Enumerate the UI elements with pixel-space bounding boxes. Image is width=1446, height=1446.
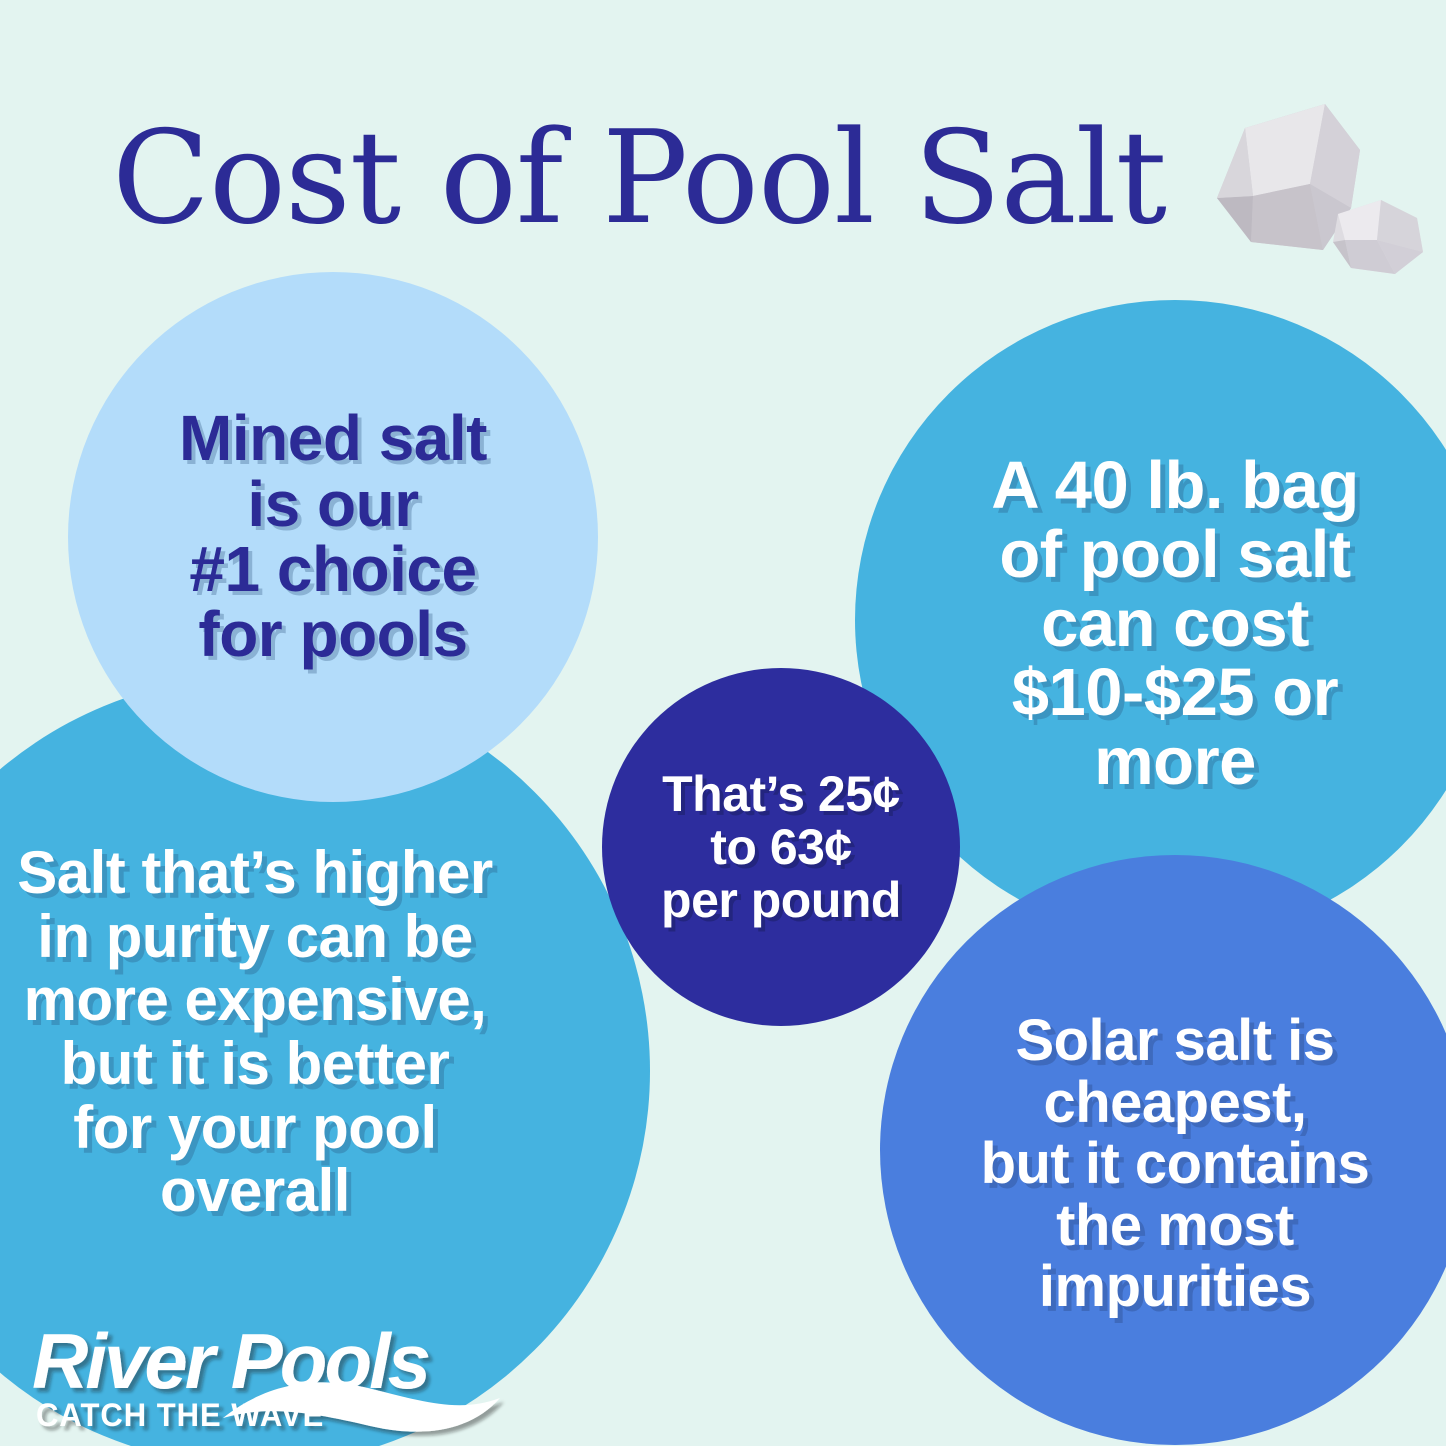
bubble-purity-text: Salt that’s higher in purity can be more… [0,841,549,1223]
bubble-per-pound-text: That’s 25¢ to 63¢ per pound [635,768,927,927]
salt-crystal-rocks-icon [1155,88,1445,298]
infographic-canvas: Cost of Pool Salt Salt that’s higher in … [0,0,1446,1446]
bubble-solar-salt: Solar salt is cheapest, but it contains … [880,855,1446,1445]
river-pools-logo: River Pools CATCH THE WAVE [18,1322,518,1446]
bubble-mined-salt-text: Mined salt is our #1 choice for pools [155,406,511,667]
bubble-solar-salt-text: Solar salt is cheapest, but it contains … [929,1010,1422,1317]
bubble-bag-cost-text: A 40 lb. bag of pool salt can cost $10-$… [947,451,1403,796]
page-title: Cost of Pool Salt [112,110,1166,248]
bubble-per-pound: That’s 25¢ to 63¢ per pound [602,668,960,1026]
bubble-mined-salt: Mined salt is our #1 choice for pools [68,272,598,802]
